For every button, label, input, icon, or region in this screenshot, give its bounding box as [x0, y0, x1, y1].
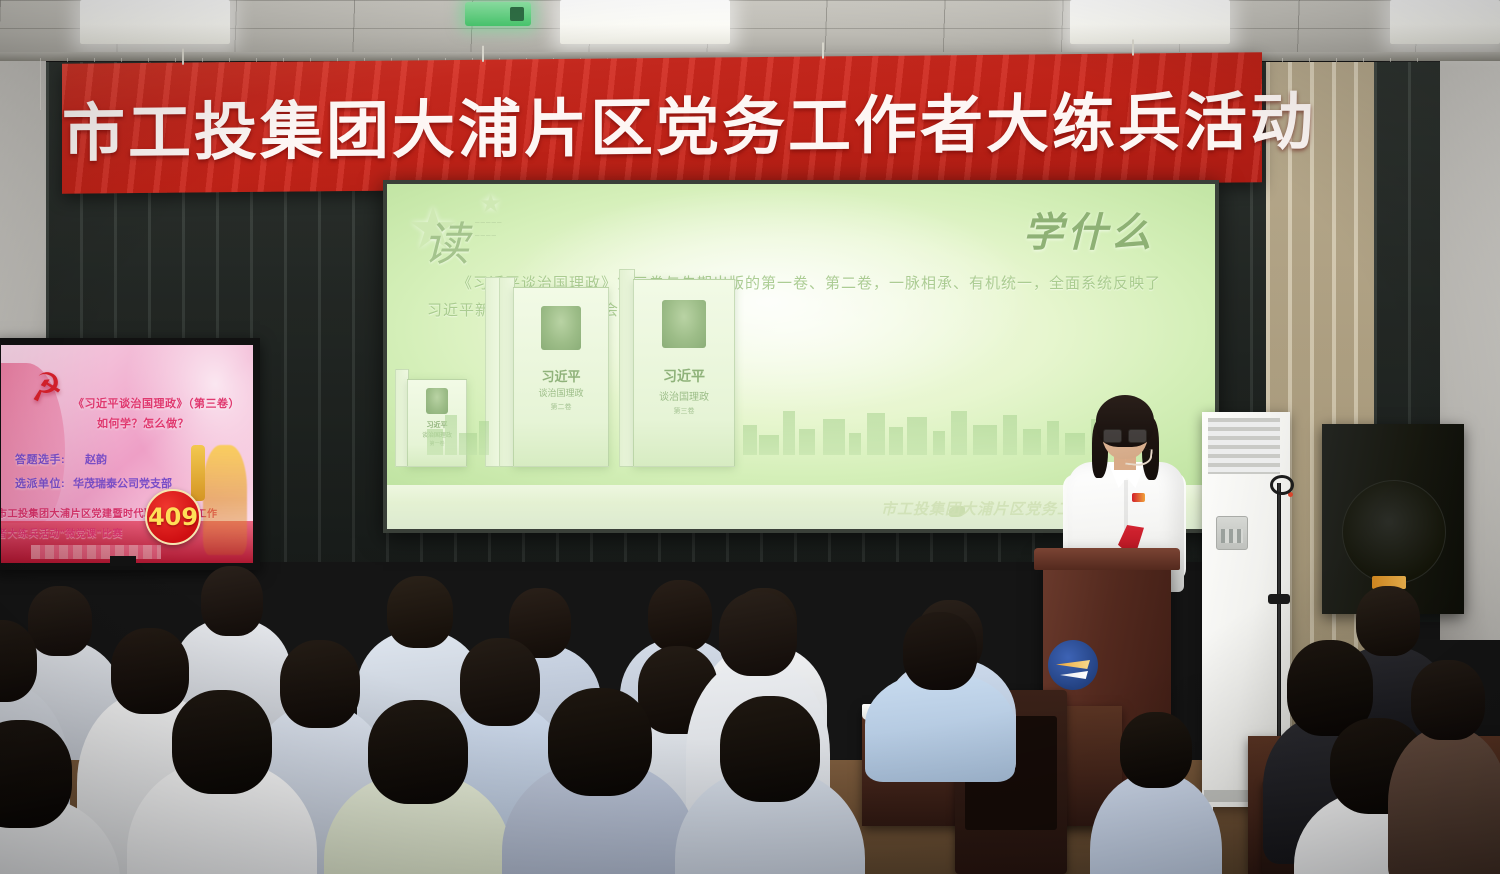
- ceiling-light-4: [1390, 0, 1500, 44]
- portrait-icon: [541, 306, 581, 350]
- gold-ornament: [203, 445, 247, 555]
- book-title: 习近平: [634, 366, 734, 386]
- ceiling-light-2: [560, 0, 730, 44]
- microphone-stand-knob[interactable]: [1268, 594, 1290, 604]
- slide-book-row: 习近平 谈治国理政 第一卷 习近平 谈治国理政 第二卷 习近平: [387, 279, 1215, 489]
- portrait-icon: [662, 300, 706, 348]
- side-monitor: ☭ 《习近平谈治国理政》（第三卷） 如何学？怎么做？ 答题选手: 赵韵 选派单位…: [0, 338, 260, 570]
- slide-heading: 学什么: [1023, 200, 1155, 258]
- contestant-label: 答题选手:: [15, 451, 65, 467]
- monitor-bottom-bars: [31, 545, 161, 559]
- ceiling-projector-icon: [465, 2, 531, 26]
- podium-top: [1034, 548, 1180, 570]
- side-monitor-title: 《习近平谈治国理政》（第三卷）: [73, 395, 243, 411]
- ceiling-light-1: [80, 0, 230, 44]
- banner-hook-icon: [822, 42, 824, 58]
- microphone-clip-icon: [1270, 475, 1294, 495]
- hammer-sickle-icon: ☭: [27, 367, 66, 409]
- party-badge-icon: [1132, 493, 1145, 502]
- glasses-icon: [1103, 429, 1147, 441]
- side-monitor-subtitle: 如何学？怎么做？: [97, 415, 243, 431]
- gold-pillar-icon: [191, 445, 205, 501]
- star-icon-small: ★: [479, 190, 502, 216]
- event-banner-text: 市工投集团大浦片区党务工作者大练兵活动: [62, 72, 1262, 175]
- slide-logo-char: 读: [423, 208, 469, 274]
- ceiling-light-3: [1070, 0, 1230, 44]
- air-conditioner-control-panel[interactable]: [1216, 516, 1248, 550]
- suspended-ceiling: [0, 0, 1500, 60]
- speaker-cone-icon: [1342, 480, 1446, 584]
- unit-name: 华茂瑞泰公司党支部: [73, 475, 172, 491]
- banner-hook-icon: [482, 46, 484, 62]
- side-monitor-screen: ☭ 《习近平谈治国理政》（第三卷） 如何学？怎么做？ 答题选手: 赵韵 选派单位…: [1, 345, 253, 563]
- monitor-stand: [110, 556, 136, 566]
- conference-hall-photo: 市工投集团大浦片区党务工作者大练兵活动 ★ ★ 读 ⎯⎯⎯⎯⎯⎯⎯⎯⎯ 学什么 …: [0, 0, 1500, 874]
- contestant-name: 赵韵: [85, 451, 107, 467]
- contestant-number-badge: 409: [145, 489, 201, 545]
- organization-emblem-icon: [1048, 640, 1098, 690]
- event-banner: 市工投集团大浦片区党务工作者大练兵活动: [62, 52, 1262, 194]
- skyline-silhouette: [387, 393, 1215, 455]
- air-conditioner-vent-icon: [1208, 418, 1280, 474]
- side-monitor-footer-line-2: 者大练兵活动"微党课"比赛: [1, 525, 123, 540]
- book-title: 习近平: [514, 366, 608, 385]
- unit-label: 选派单位:: [15, 475, 65, 491]
- banner-hook-icon: [1132, 39, 1134, 55]
- slide-logo-subtitle: ⎯⎯⎯⎯⎯⎯⎯⎯⎯: [475, 216, 503, 242]
- banner-hook-icon: [182, 49, 184, 65]
